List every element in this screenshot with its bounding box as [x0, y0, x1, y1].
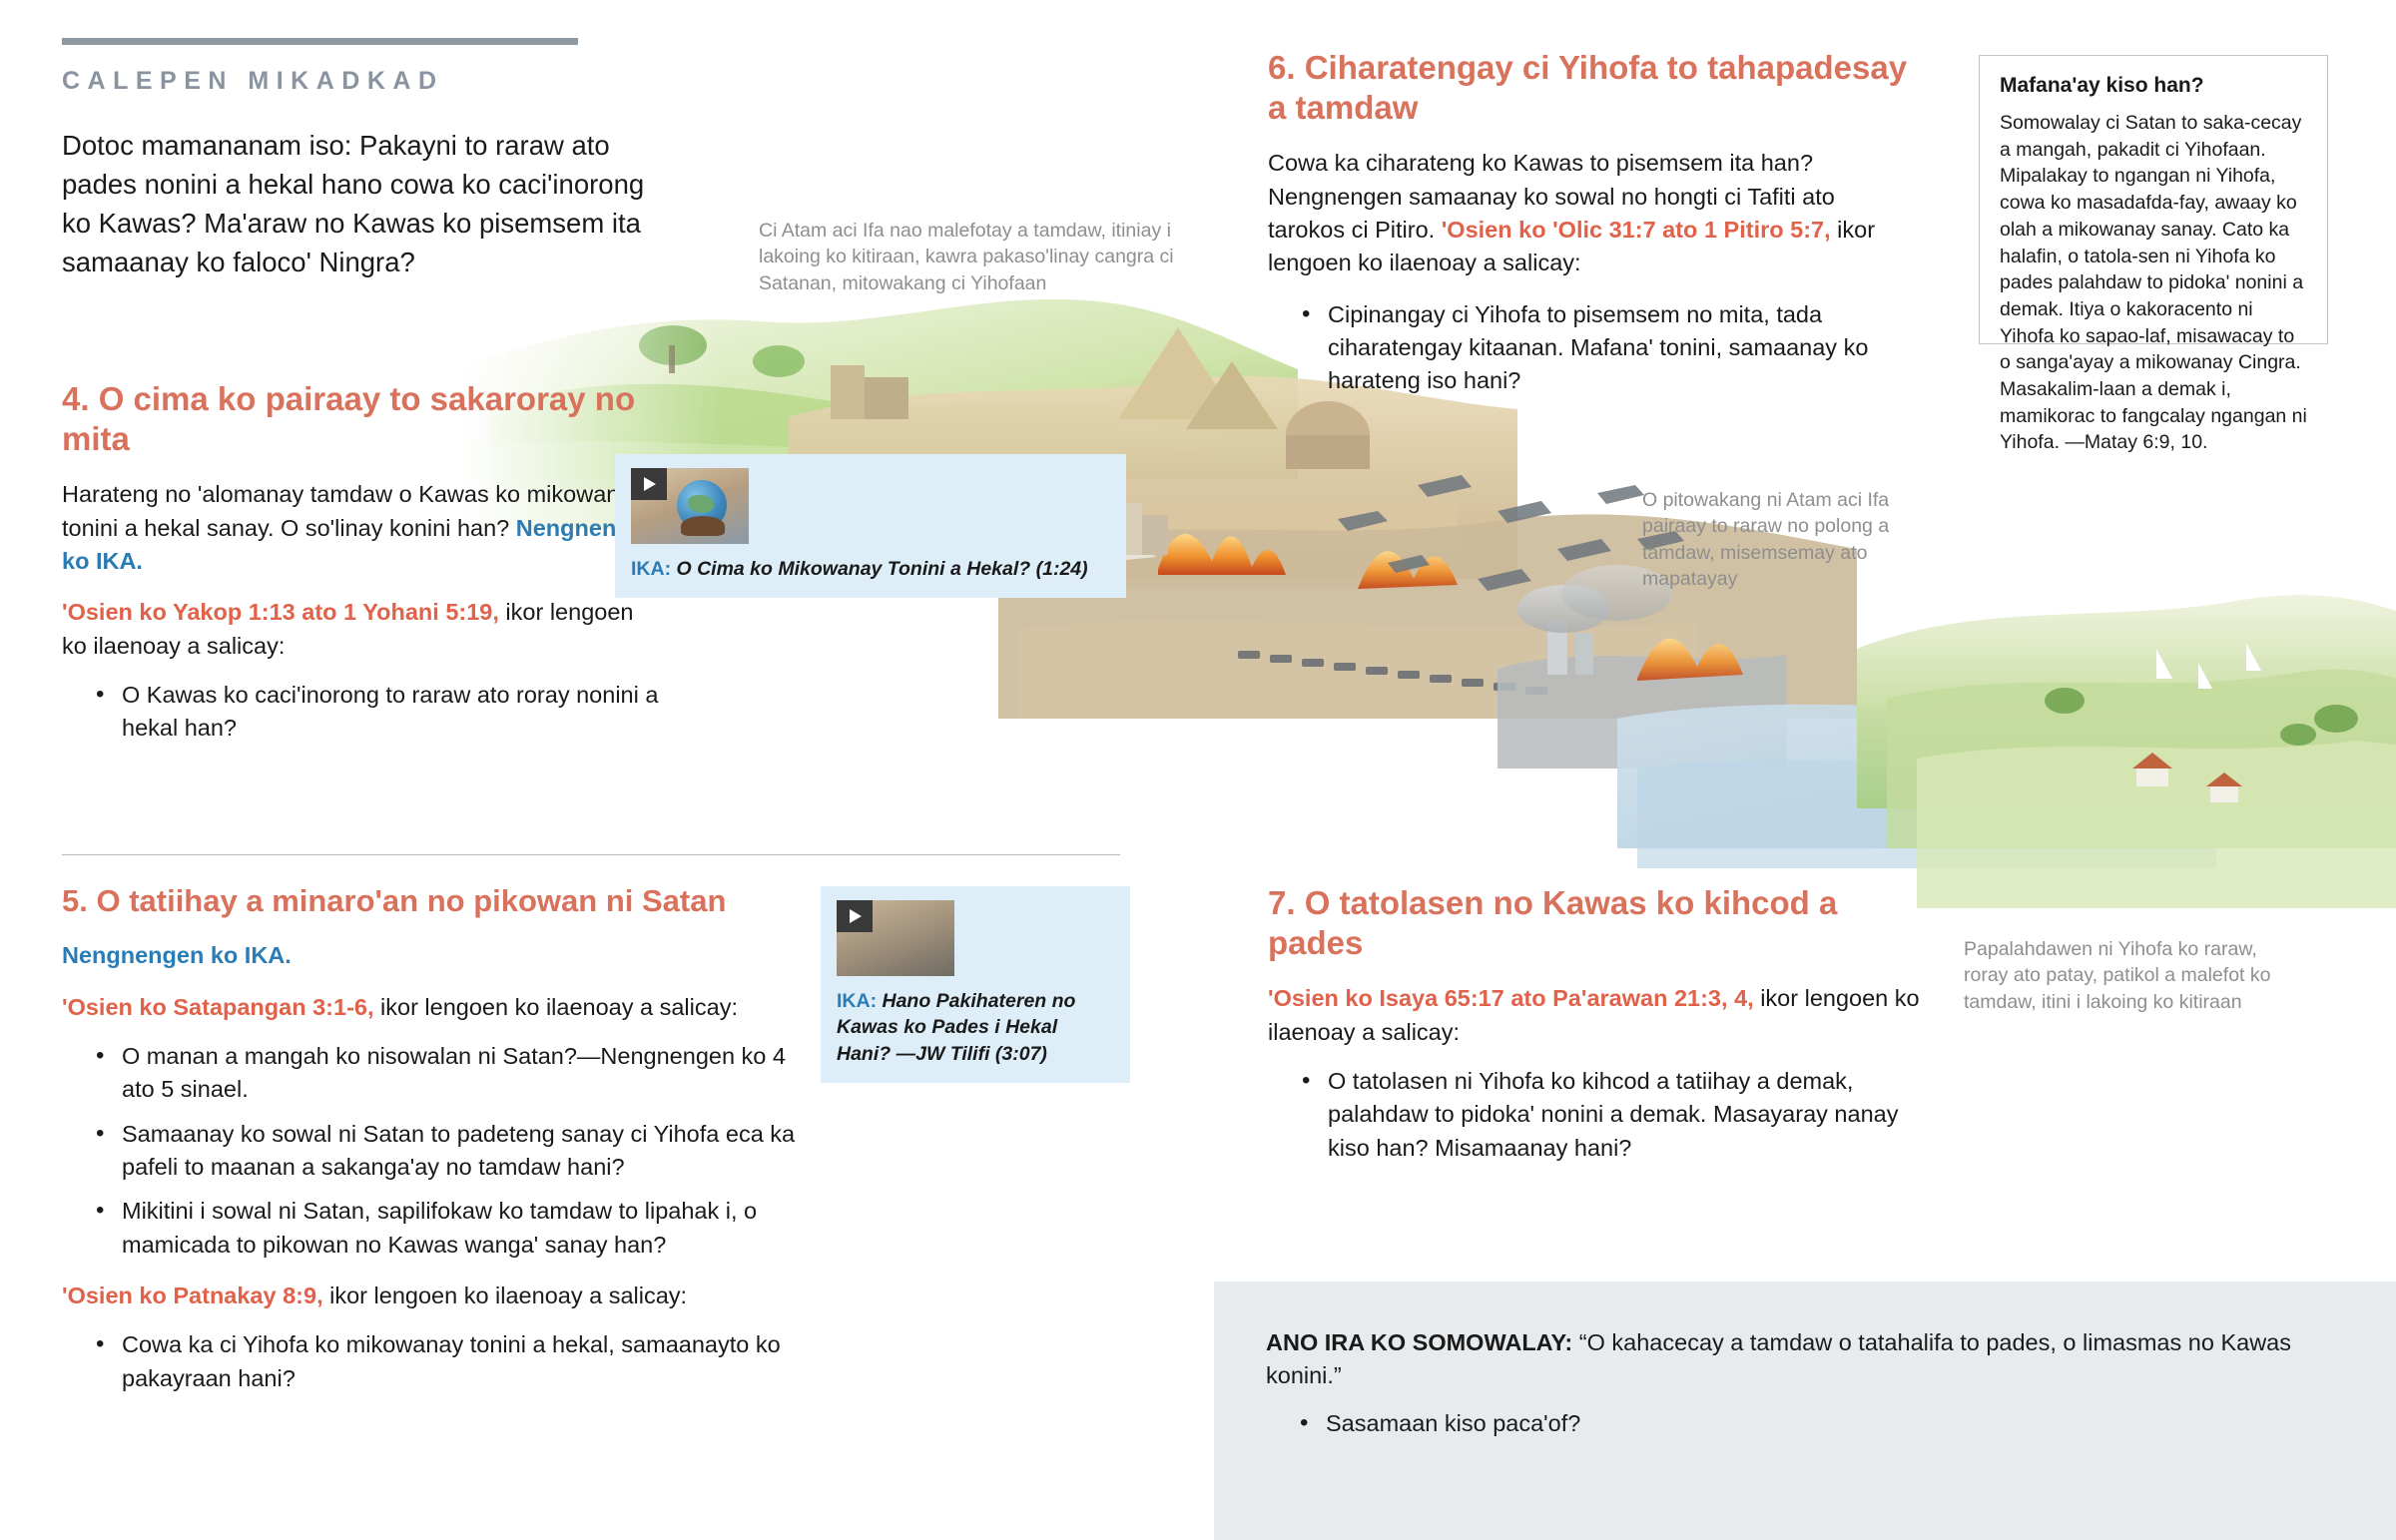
section-7-heading: 7. O tatolasen no Kawas ko kihcod a pade…	[1268, 883, 1927, 962]
section-6-body: Cowa ka ciharateng ko Kawas to pisemsem …	[1268, 147, 1917, 279]
play-icon[interactable]	[837, 900, 873, 932]
section-5-video-link[interactable]: Nengnengen ko IKA.	[62, 942, 292, 968]
someone-says-line: ANO IRA KO SOMOWALAY: “O kahacecay a tam…	[1266, 1326, 2344, 1393]
section-5-citation-1: 'Osien ko Satapangan 3:1-6, ikor lengoen…	[62, 991, 821, 1024]
list-item: Samaanay ko sowal ni Satan to padeteng s…	[96, 1118, 821, 1185]
video-source-2: —JW Tilifi (3:07)	[897, 1043, 1047, 1065]
someone-says-bullets: Sasamaan kiso paca'of?	[1266, 1407, 2344, 1440]
section-5-heading: 5. O tatiihay a minaro'an no pikowan ni …	[62, 882, 821, 919]
list-item: Mikitini i sowal ni Satan, sapilifokaw k…	[96, 1195, 821, 1262]
video-thumbnail-2[interactable]	[837, 900, 954, 976]
section-5-citation-2: 'Osien ko Patnakay 8:9, ikor lengoen ko …	[62, 1280, 821, 1312]
section-7-cite-ref[interactable]: 'Osien ko Isaya 65:17 ato Pa'arawan 21:3…	[1268, 985, 1754, 1011]
video-caption-2: IKA: Hano Pakihateren no Kawas ko Pades …	[837, 988, 1114, 1067]
paradise-scene	[1857, 595, 2396, 908]
section-5-cite-rest-1: ikor lengoen ko ilaenoay a salicay:	[374, 994, 738, 1020]
someone-says-box: ANO IRA KO SOMOWALAY: “O kahacecay a tam…	[1214, 1282, 2396, 1540]
video-label-1: IKA:	[631, 558, 671, 580]
list-item: Sasamaan kiso paca'of?	[1300, 1407, 2344, 1440]
section-4-heading: 4. O cima ko pairaay to sakaroray no mit…	[62, 379, 661, 458]
section-6-cite-ref[interactable]: 'Osien ko 'Olic 31:7 ato 1 Pitiro 5:7,	[1442, 217, 1831, 243]
top-rule	[62, 38, 578, 45]
did-you-know-box: Mafana'ay kiso han? Somowalay ci Satan t…	[1979, 55, 2328, 344]
art-caption-2: O pitowakang ni Atam aci Ifa pairaay to …	[1642, 487, 1942, 592]
someone-says-label: ANO IRA KO SOMOWALAY:	[1266, 1329, 1572, 1355]
section-5-video-link-line: Nengnengen ko IKA.	[62, 939, 821, 972]
section-5-bullets-2: Cowa ka ci Yihofa ko mikowanay tonini a …	[62, 1328, 821, 1395]
list-item: Cipinangay ci Yihofa to pisemsem no mita…	[1302, 298, 1917, 398]
sidebar-heading: Mafana'ay kiso han?	[2000, 74, 2307, 98]
section-6-heading: 6. Ciharatengay ci Yihofa to tahapadesay…	[1268, 48, 1917, 127]
section-7-bullets: O tatolasen ni Yihofa ko kihcod a tatiih…	[1268, 1065, 1927, 1165]
section-5-cite-ref-2[interactable]: 'Osien ko Patnakay 8:9,	[62, 1283, 323, 1308]
video-label-2: IKA:	[837, 990, 877, 1012]
video-caption-1: IKA: O Cima ko Mikowanay Tonini a Hekal?…	[631, 556, 1110, 582]
section-6: 6. Ciharatengay ci Yihofa to tahapadesay…	[1268, 48, 1917, 416]
list-item: O manan a mangah ko nisowalan ni Satan?—…	[96, 1040, 821, 1107]
section-4-bullets: O Kawas ko caci'inorong to raraw ato ror…	[62, 679, 661, 746]
section-7-citation: 'Osien ko Isaya 65:17 ato Pa'arawan 21:3…	[1268, 982, 1927, 1049]
video-title-1: O Cima ko Mikowanay Tonini a Hekal? (1:2…	[671, 558, 1088, 580]
section-5-bullets-1: O manan a mangah ko nisowalan ni Satan?—…	[62, 1040, 821, 1262]
hand-icon	[681, 516, 725, 536]
list-item: O tatolasen ni Yihofa ko kihcod a tatiih…	[1302, 1065, 1927, 1165]
section-4-cite-ref[interactable]: 'Osien ko Yakop 1:13 ato 1 Yohani 5:19,	[62, 599, 499, 625]
section-6-bullets: Cipinangay ci Yihofa to pisemsem no mita…	[1268, 298, 1917, 398]
eyebrow-label: CALEPEN MIKADKAD	[62, 67, 721, 96]
list-item: O Kawas ko caci'inorong to raraw ato ror…	[96, 679, 661, 746]
video-card-2[interactable]: IKA: Hano Pakihateren no Kawas ko Pades …	[821, 886, 1130, 1083]
play-icon[interactable]	[631, 468, 667, 500]
section-4: 4. O cima ko pairaay to sakaroray no mit…	[62, 379, 661, 764]
list-item: Cowa ka ci Yihofa ko mikowanay tonini a …	[96, 1328, 821, 1395]
section-5: 5. O tatiihay a minaro'an no pikowan ni …	[62, 882, 821, 1413]
section-5-cite-ref-1[interactable]: 'Osien ko Satapangan 3:1-6,	[62, 994, 374, 1020]
art-caption-1: Ci Atam aci Ifa nao malefotay a tamdaw, …	[759, 218, 1178, 296]
art-caption-3: Papalahdawen ni Yihofa ko raraw, roray a…	[1964, 936, 2293, 1015]
sidebar-body: Somowalay ci Satan to saka-cecay a manga…	[2000, 110, 2307, 456]
section-divider	[62, 854, 1120, 855]
video-card-1[interactable]: IKA: O Cima ko Mikowanay Tonini a Hekal?…	[615, 454, 1126, 598]
section-4-body: Harateng no 'alomanay tamdaw o Kawas ko …	[62, 478, 661, 578]
section-7: 7. O tatolasen no Kawas ko kihcod a pade…	[1268, 883, 1927, 1183]
intro-paragraph: Dotoc mamananam iso: Pakayni to raraw at…	[62, 126, 661, 281]
section-5-cite-rest-2: ikor lengoen ko ilaenoay a salicay:	[323, 1283, 687, 1308]
section-4-citation: 'Osien ko Yakop 1:13 ato 1 Yohani 5:19, …	[62, 596, 661, 663]
video-thumbnail-1[interactable]	[631, 468, 749, 544]
header-column: CALEPEN MIKADKAD Dotoc mamananam iso: Pa…	[62, 38, 721, 281]
